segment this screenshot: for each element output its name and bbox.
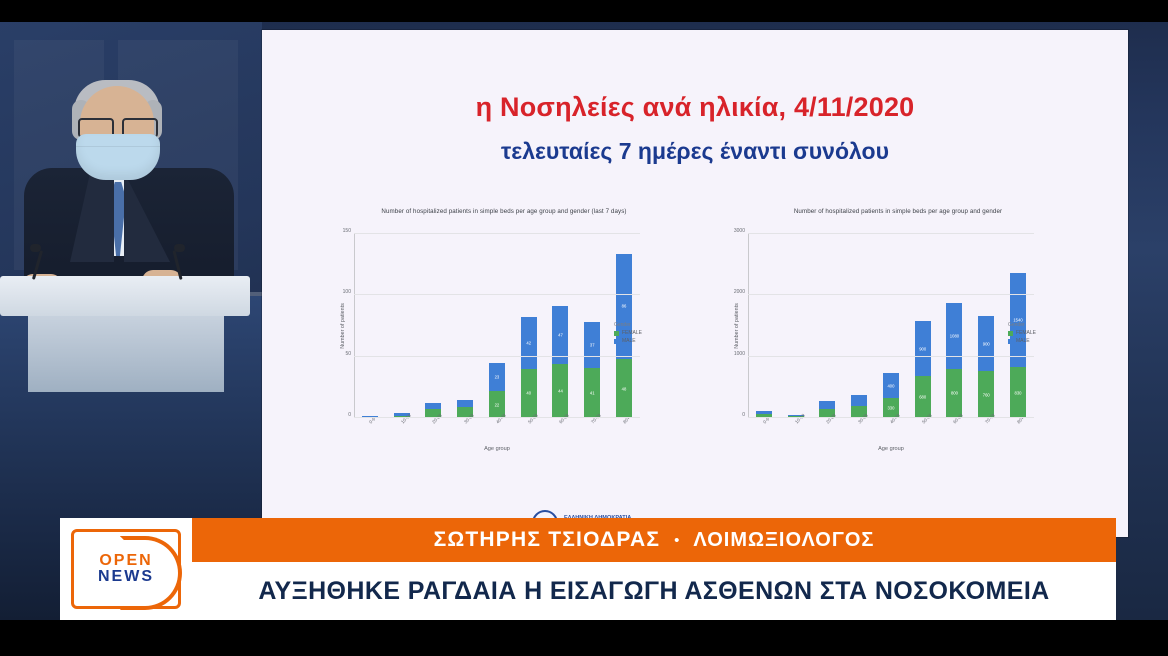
chart-title-1: Number of hospitalized patients in simpl…: [702, 208, 1094, 215]
glasses-icon: [78, 118, 158, 134]
legend-label-female-1: FEMALE: [1016, 330, 1036, 336]
channel-logo: OPEN NEWS: [60, 518, 192, 620]
bar-group-0: 0-910-1920-2930-39232240-49424050-594744…: [354, 234, 640, 418]
gridline: [748, 356, 1034, 357]
bar-value-label: 760: [983, 392, 990, 397]
bar-segment-male: 1540: [1010, 273, 1026, 367]
legend-0: Gender FEMALE MALE: [614, 322, 642, 344]
bar-column: 10-19: [788, 234, 804, 418]
bar-segment-male: 23: [489, 363, 505, 391]
bar-segment-female: 41: [584, 368, 600, 418]
bar-column: 20-29: [819, 234, 835, 418]
gridline: [748, 417, 1034, 418]
bar-segment-male: 37: [584, 322, 600, 367]
y-tick-label: 0: [742, 412, 745, 418]
bar-segment-female: 760: [978, 371, 994, 418]
legend-swatch-female-0: [614, 331, 619, 336]
speaker-name: ΣΩΤΗΡΗΣ ΤΣΙΟΔΡΑΣ: [434, 528, 661, 552]
bar-value-label: 800: [951, 391, 958, 396]
headline-bar: ΑΥΞΗΘΗΚΕ ΡΑΓΔΑΙΑ Η ΕΙΣΑΓΩΓΗ ΑΣΘΕΝΩΝ ΣΤΑ …: [192, 562, 1116, 620]
bar-value-label: 44: [558, 389, 563, 394]
chart-panel-total: Number of hospitalized patients in simpl…: [702, 208, 1094, 458]
legend-entry-male-1: MALE: [1008, 338, 1036, 344]
bar-column: 90076070-79: [978, 234, 994, 418]
bar-column: 0-9: [756, 234, 772, 418]
lectern-top: [0, 276, 250, 316]
bar-value-label: 1080: [950, 333, 959, 338]
broadcast-frame: η Νοσηλείες ανά ηλικία, 4/11/2020 τελευτ…: [0, 0, 1168, 656]
bar-column: 374170-79: [584, 234, 600, 418]
legend-label-male-0: MALE: [622, 338, 636, 344]
y-tick-label: 50: [345, 351, 351, 357]
y-axis-title-1: Number of patients: [734, 303, 740, 349]
legend-entry-female-1: FEMALE: [1008, 330, 1036, 336]
plot-area-0: Number of patients 0-910-1920-2930-39232…: [354, 234, 640, 418]
gridline: [354, 294, 640, 295]
legend-entry-male-0: MALE: [614, 338, 642, 344]
bar-segment-male: 900: [978, 316, 994, 371]
bar-value-label: 41: [590, 390, 595, 395]
y-tick-label: 3000: [734, 228, 745, 234]
bar-column: 474460-69: [552, 234, 568, 418]
bar-segment-female: 800: [946, 369, 962, 418]
bar-value-label: 47: [558, 333, 563, 338]
bar-group-1: 0-910-1920-2930-3940033040-4990068050-59…: [748, 234, 1034, 418]
legend-swatch-female-1: [1008, 331, 1013, 336]
gridline: [354, 233, 640, 234]
lower-third: OPEN NEWS ΣΩΤΗΡΗΣ ΤΣΙΟΔΡΑΣ • ΛΟΙΜΩΞΙΟΛΟΓ…: [60, 518, 1116, 620]
channel-logo-frame: OPEN NEWS: [71, 529, 181, 609]
x-axis-title-0: Age group: [354, 446, 640, 452]
lectern-body: [28, 312, 224, 392]
legend-title-0: Gender: [614, 322, 642, 328]
bar-segment-male: 42: [521, 317, 537, 369]
slide-subtitle: τελευταίες 7 ημέρες έναντι συνόλου: [262, 138, 1128, 165]
bar-segment-male: 900: [915, 321, 931, 376]
bar-value-label: 86: [622, 304, 627, 309]
bar-segment-male: [457, 400, 473, 407]
face-mask-fold: [76, 146, 160, 147]
bar-value-label: 22: [495, 402, 500, 407]
gridline: [354, 356, 640, 357]
bar-segment-male: 1080: [946, 303, 962, 369]
bar-value-label: 330: [887, 405, 894, 410]
presentation-slide: η Νοσηλείες ανά ηλικία, 4/11/2020 τελευτ…: [262, 30, 1128, 537]
gridline: [748, 294, 1034, 295]
bar-value-label: 900: [919, 346, 926, 351]
gridline: [354, 417, 640, 418]
letterbox-bottom: [0, 620, 1168, 656]
bar-segment-male: 400: [883, 373, 899, 398]
separator-dot-icon: •: [674, 532, 679, 549]
slide-title: η Νοσηλείες ανά ηλικία, 4/11/2020: [262, 92, 1128, 123]
bar-segment-female: 40: [521, 369, 537, 418]
bar-segment-male: [819, 401, 835, 409]
y-axis-title-0: Number of patients: [340, 303, 346, 349]
legend-entry-female-0: FEMALE: [614, 330, 642, 336]
bar-column: 90068050-59: [915, 234, 931, 418]
plot-area-1: Number of patients 0-910-1920-2930-39400…: [748, 234, 1034, 418]
letterbox-top: [0, 0, 1168, 22]
bar-column: 232240-49: [489, 234, 505, 418]
speaker-name-bar: ΣΩΤΗΡΗΣ ΤΣΙΟΔΡΑΣ • ΛΟΙΜΩΞΙΟΛΟΓΟΣ: [192, 518, 1116, 562]
gridline: [748, 233, 1034, 234]
bar-value-label: 48: [622, 386, 627, 391]
chart-panel-last-7-days: Number of hospitalized patients in simpl…: [308, 208, 700, 458]
speaker-role: ΛΟΙΜΩΞΙΟΛΟΓΟΣ: [693, 529, 874, 552]
bar-column: 108080060-69: [946, 234, 962, 418]
face-mask-icon: [76, 134, 160, 180]
bar-column: 10-19: [394, 234, 410, 418]
legend-label-female-0: FEMALE: [622, 330, 642, 336]
chart-title-0: Number of hospitalized patients in simpl…: [308, 208, 700, 215]
y-tick-label: 0: [348, 412, 351, 418]
y-tick-label: 100: [343, 289, 351, 295]
y-tick-label: 150: [343, 228, 351, 234]
bar-value-label: 680: [919, 395, 926, 400]
bar-segment-female: 44: [552, 364, 568, 418]
bar-segment-male: [851, 395, 867, 406]
x-axis-title-1: Age group: [748, 446, 1034, 452]
bar-value-label: 900: [983, 341, 990, 346]
bar-segment-female: 830: [1010, 367, 1026, 418]
channel-logo-arc-icon: [120, 536, 182, 610]
legend-swatch-male-1: [1008, 339, 1013, 344]
bar-value-label: 40: [526, 391, 531, 396]
bar-column: 424050-59: [521, 234, 537, 418]
bar-value-label: 830: [1015, 390, 1022, 395]
bar-column: 30-39: [457, 234, 473, 418]
microphone-head-left: [30, 244, 41, 252]
bar-column: 20-29: [425, 234, 441, 418]
bar-segment-female: 48: [616, 359, 632, 418]
y-tick-label: 1000: [734, 351, 745, 357]
microphone-head-right: [174, 244, 185, 252]
bar-column: 30-39: [851, 234, 867, 418]
bar-column: 0-9: [362, 234, 378, 418]
bar-value-label: 23: [495, 374, 500, 379]
bar-value-label: 37: [590, 343, 595, 348]
bar-value-label: 400: [887, 383, 894, 388]
bar-value-label: 42: [526, 341, 531, 346]
y-tick-label: 2000: [734, 289, 745, 295]
legend-swatch-male-0: [614, 339, 619, 344]
legend-1: Gender FEMALE MALE: [1008, 322, 1036, 344]
legend-label-male-1: MALE: [1016, 338, 1030, 344]
legend-title-1: Gender: [1008, 322, 1036, 328]
bar-column: 40033040-49: [883, 234, 899, 418]
headline-text: ΑΥΞΗΘΗΚΕ ΡΑΓΔΑΙΑ Η ΕΙΣΑΓΩΓΗ ΑΣΘΕΝΩΝ ΣΤΑ …: [258, 577, 1049, 606]
